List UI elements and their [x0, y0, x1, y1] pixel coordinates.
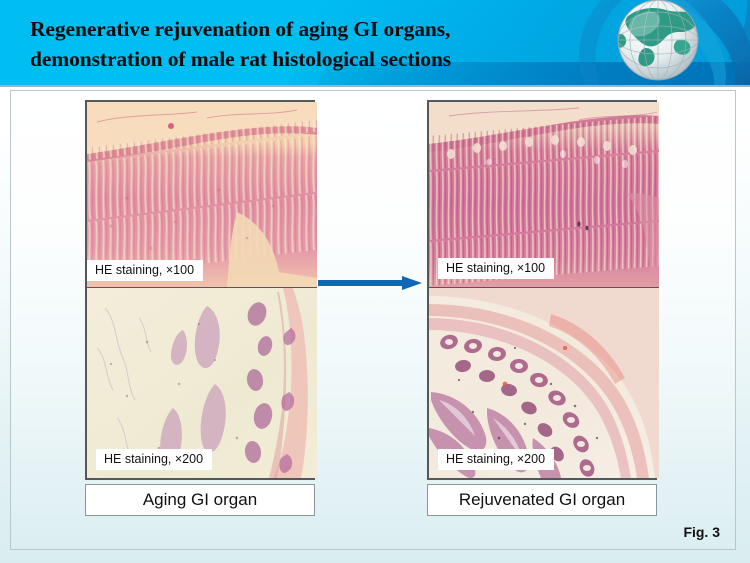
- title-banner: Regenerative rejuvenation of aging GI or…: [0, 0, 750, 87]
- column-aging: HE staining, ×100: [85, 100, 315, 516]
- transformation-arrow-icon: [318, 276, 422, 290]
- figure-label: Fig. 3: [683, 524, 720, 540]
- organ-label-rejuvenated-text: Rejuvenated GI organ: [459, 490, 625, 510]
- globe-icon: [550, 0, 750, 87]
- photo-stack-rejuvenated: HE staining, ×100: [427, 100, 657, 480]
- caption-rejuvenated-200x: HE staining, ×200: [438, 449, 554, 470]
- photo-stack-aging: HE staining, ×100: [85, 100, 315, 480]
- title-line-2: demonstration of male rat histological s…: [30, 44, 570, 74]
- organ-label-rejuvenated: Rejuvenated GI organ: [427, 484, 657, 516]
- banner-bottom-edge: [0, 85, 750, 87]
- caption-aging-100x: HE staining, ×100: [87, 260, 203, 281]
- organ-label-aging: Aging GI organ: [85, 484, 315, 516]
- page-title: Regenerative rejuvenation of aging GI or…: [30, 14, 570, 74]
- title-line-1: Regenerative rejuvenation of aging GI or…: [30, 17, 450, 41]
- micrograph-aging-100x[interactable]: HE staining, ×100: [87, 102, 317, 287]
- caption-aging-200x: HE staining, ×200: [96, 449, 212, 470]
- caption-rejuvenated-100x: HE staining, ×100: [438, 258, 554, 279]
- organ-label-aging-text: Aging GI organ: [143, 490, 257, 510]
- globe-graphic: [550, 0, 750, 87]
- slide: Regenerative rejuvenation of aging GI or…: [0, 0, 750, 563]
- micrograph-rejuvenated-100x[interactable]: HE staining, ×100: [429, 102, 659, 287]
- micrograph-rejuvenated-200x[interactable]: HE staining, ×200: [429, 287, 659, 478]
- micrograph-aging-200x[interactable]: HE staining, ×200: [87, 287, 317, 478]
- column-rejuvenated: HE staining, ×100: [427, 100, 657, 516]
